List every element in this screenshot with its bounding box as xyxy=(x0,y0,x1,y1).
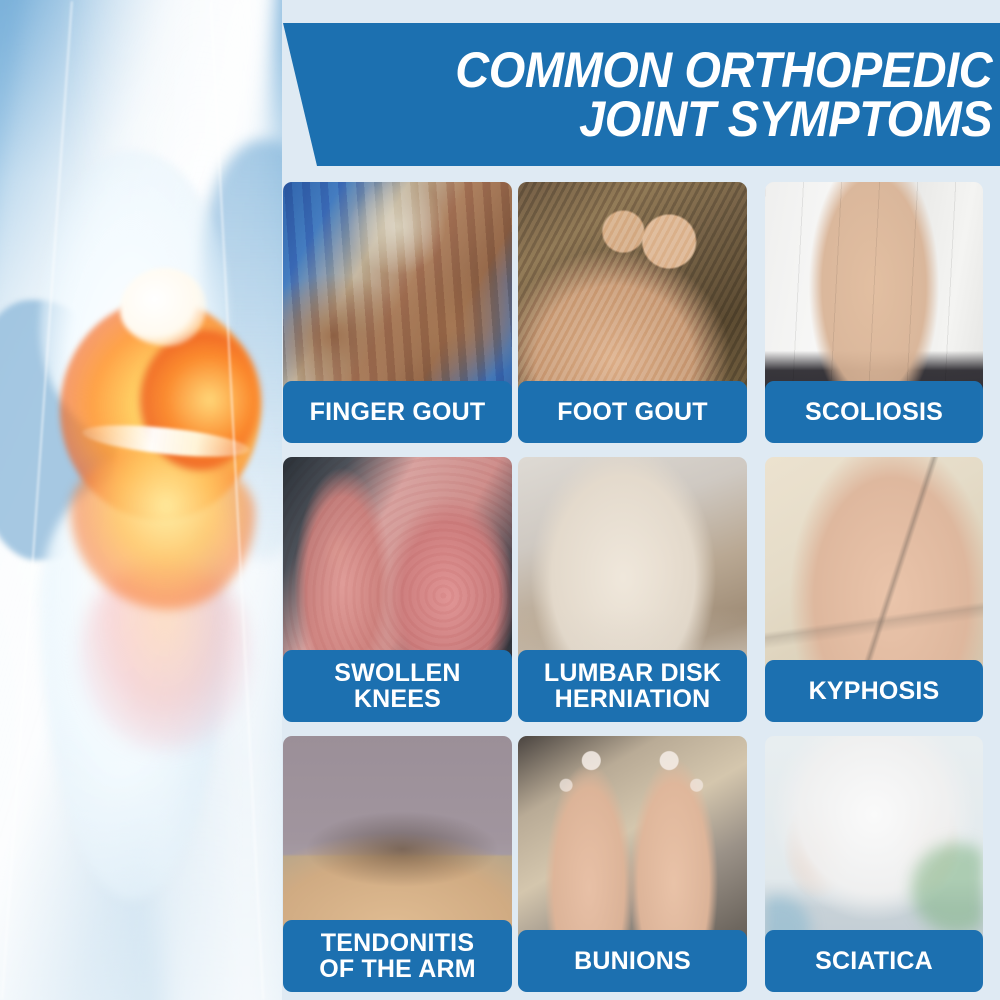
page-title: COMMON ORTHOPEDIC JOINT SYMPTOMS xyxy=(455,46,992,144)
symptom-card-lumbar-disk-herniation[interactable]: LUMBAR DISK HERNIATION xyxy=(518,457,747,734)
symptom-card-foot-gout[interactable]: FOOT GOUT xyxy=(518,178,747,455)
symptom-label-kyphosis: KYPHOSIS xyxy=(765,660,983,722)
symptom-card-swollen-knees[interactable]: SWOLLEN KNEES xyxy=(283,457,512,734)
symptom-label-sciatica: SCIATICA xyxy=(765,930,983,992)
header-banner: COMMON ORTHOPEDIC JOINT SYMPTOMS xyxy=(275,23,1000,166)
symptom-label-bunions: BUNIONS xyxy=(518,930,747,992)
symptom-label-lumbar-disk-herniation: LUMBAR DISK HERNIATION xyxy=(518,650,747,722)
hero-bottom-haze xyxy=(0,740,282,1000)
symptom-label-scoliosis: SCOLIOSIS xyxy=(765,381,983,443)
symptoms-grid: FINGER GOUT FOOT GOUT SCOLIOSIS SWOLLEN … xyxy=(283,178,1000,1000)
symptom-card-sciatica[interactable]: SCIATICA xyxy=(753,736,994,1000)
patella-bone xyxy=(120,268,206,346)
symptom-card-finger-gout[interactable]: FINGER GOUT xyxy=(283,178,512,455)
symptom-label-foot-gout: FOOT GOUT xyxy=(518,381,747,443)
symptom-card-bunions[interactable]: BUNIONS xyxy=(518,736,747,1000)
symptom-label-swollen-knees: SWOLLEN KNEES xyxy=(283,650,512,722)
symptom-card-kyphosis[interactable]: KYPHOSIS xyxy=(753,457,994,734)
symptom-card-scoliosis[interactable]: SCOLIOSIS xyxy=(753,178,994,455)
knee-xray-hero-illustration xyxy=(0,0,282,1000)
symptom-label-finger-gout: FINGER GOUT xyxy=(283,381,512,443)
symptom-label-tendonitis-of-the-arm: TENDONITIS OF THE ARM xyxy=(283,920,512,992)
symptom-card-tendonitis-of-the-arm[interactable]: TENDONITIS OF THE ARM xyxy=(283,736,512,1000)
